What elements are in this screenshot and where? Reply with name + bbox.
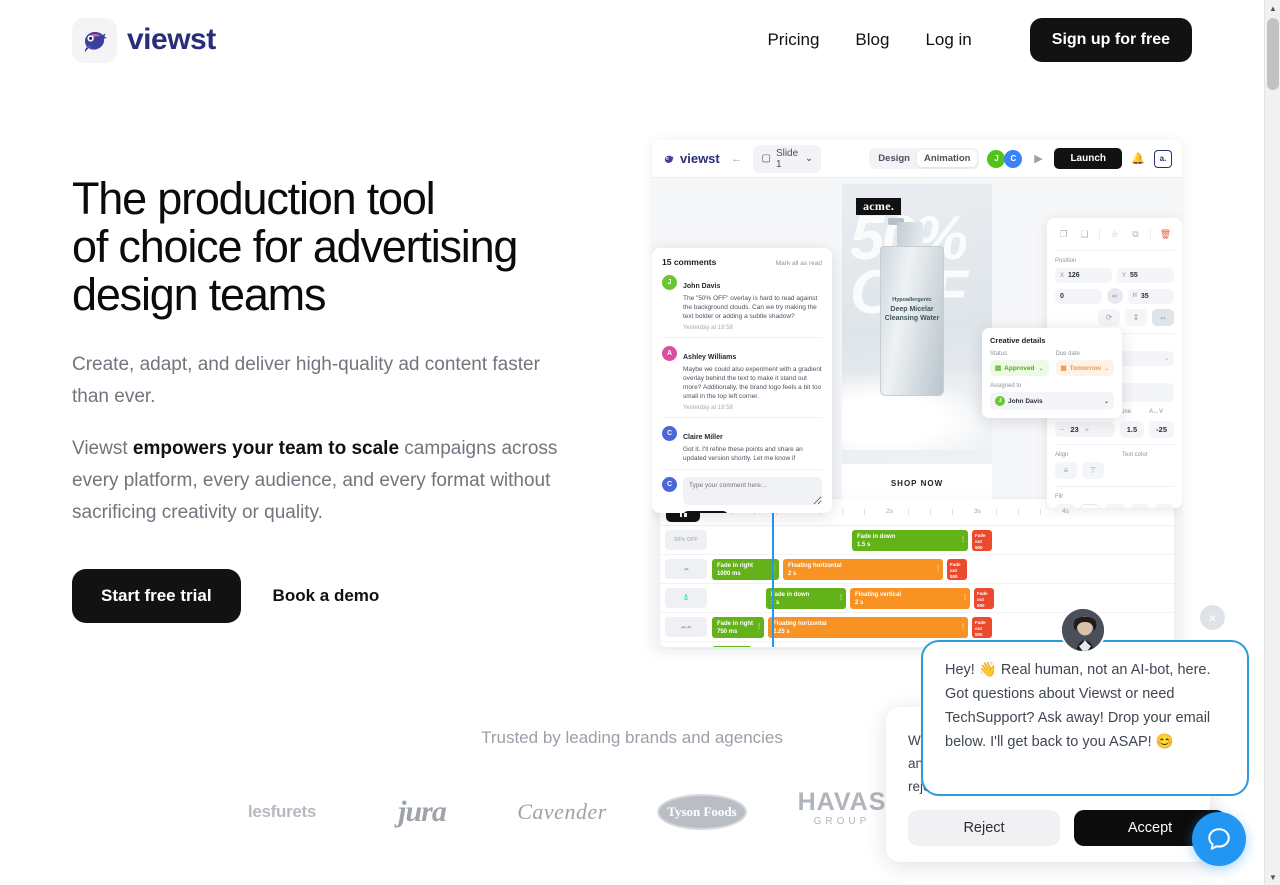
status-value: Approved: [1004, 365, 1034, 372]
back-arrow-icon[interactable]: ←: [728, 149, 746, 169]
comment-author: John Davis: [683, 283, 720, 290]
brand-logo-tyson-foods: Tyson Foods: [632, 784, 772, 840]
chat-close-icon[interactable]: ×: [1200, 605, 1225, 630]
due-date-group: Due date ▦ Tomorrow ⌄: [1056, 351, 1115, 376]
timeline-lane[interactable]: Fade in down 1 s ⋮ Floating vertical 2 s…: [710, 584, 1174, 613]
mode-tabs: Design Animation: [869, 148, 979, 169]
delete-icon[interactable]: 🗑: [1157, 226, 1174, 243]
clip-resize-handle[interactable]: ⋮: [960, 536, 965, 544]
chevron-down-icon: ⌄: [1104, 365, 1109, 372]
creative-details-popup: Creative details Status ▤ Approved ⌄ Due…: [982, 328, 1122, 418]
gradient-fill-icon[interactable]: ◨: [1105, 504, 1125, 508]
font-size-value: 23: [1070, 425, 1078, 434]
scroll-up-icon[interactable]: ▲: [1265, 0, 1280, 16]
chameleon-logo-icon: [72, 18, 117, 63]
calendar-icon: ▦: [1061, 364, 1067, 372]
launch-button[interactable]: Launch: [1054, 148, 1122, 169]
comments-count: 15 comments: [662, 257, 716, 267]
tab-animation[interactable]: Animation: [917, 150, 977, 167]
animation-clip[interactable]: Fade out 500 ms: [972, 617, 992, 638]
ad-brand-logo: acme.: [856, 198, 901, 215]
comment-body: John Davis The "50% OFF" overlay is hard…: [683, 275, 822, 331]
assigned-to-value: John Davis: [1008, 398, 1043, 405]
cookie-buttons: Reject Accept: [908, 810, 1226, 846]
scrollbar-thumb[interactable]: [1267, 18, 1279, 90]
position-x-field[interactable]: X 126: [1055, 268, 1112, 283]
chevron-down-icon: ⌄: [805, 153, 813, 164]
align-label: Align: [1055, 452, 1104, 458]
divider: [1150, 229, 1151, 241]
clip-duration: 750 ms: [717, 629, 737, 635]
clip-resize-handle[interactable]: ⋮: [935, 565, 940, 573]
nav-link-pricing[interactable]: Pricing: [767, 30, 819, 50]
clip-resize-handle[interactable]: ⋮: [838, 594, 843, 602]
cookie-reject-button[interactable]: Reject: [908, 810, 1060, 846]
comment-text: Got it. I'll refine these points and sha…: [683, 445, 822, 463]
clip-label: Fade in down: [857, 534, 895, 540]
bring-forward-icon[interactable]: ❐: [1055, 226, 1072, 243]
clip-label: Floating horizontal: [788, 563, 842, 569]
due-date-label: Due date: [1056, 351, 1115, 357]
creative-details-title: Creative details: [990, 336, 1114, 345]
decrement-icon[interactable]: −: [1060, 425, 1064, 434]
comment-item: A Ashley Williams Maybe we could also ex…: [662, 338, 822, 418]
canvas-area: 50% OFF acme. Hypoallergenic Deep Micela…: [652, 178, 1182, 508]
slide-label: Slide 1: [776, 148, 800, 170]
status-due-row: Status ▤ Approved ⌄ Due date ▦ Tomo: [990, 351, 1114, 376]
size-width-field[interactable]: 0: [1055, 289, 1102, 304]
page-scrollbar[interactable]: ▲ ▼: [1264, 0, 1280, 885]
book-a-demo-button[interactable]: Book a demo: [269, 582, 384, 610]
chat-agent-avatar: [1060, 607, 1106, 653]
nav-link-blog[interactable]: Blog: [855, 30, 889, 50]
fill-label: Fill: [1055, 494, 1174, 500]
clip-resize-handle[interactable]: ⋮: [756, 623, 761, 631]
tracking-value[interactable]: -25: [1149, 421, 1174, 438]
clip-label: Fade in right: [717, 563, 753, 569]
radial-fill-icon[interactable]: ◯: [1130, 504, 1150, 508]
avatar: J: [662, 275, 677, 290]
start-free-trial-button[interactable]: Start free trial: [72, 569, 241, 623]
layer-thumbnail[interactable]: ☁☁: [665, 617, 707, 637]
main-nav: Pricing Blog Log in Sign up for free: [767, 18, 1192, 62]
hero-paragraph: Viewst empowers your team to scale campa…: [72, 433, 572, 529]
tracking-group: A↔V -25: [1149, 409, 1174, 437]
fill-buttons: − ◓ ◨ ◯ 🖼: [1055, 504, 1174, 508]
line-height-value[interactable]: 1.5: [1120, 421, 1144, 438]
tracking-label: A↔V: [1149, 409, 1174, 415]
clip-label: Floating vertical: [855, 592, 901, 598]
brand-logo-lesfurets: lesfurets: [212, 784, 352, 840]
clip-label: Fade out: [975, 620, 986, 631]
comment-input[interactable]: [683, 477, 822, 505]
clip-duration: 2 s: [855, 600, 863, 606]
layer-actions-row: ❐ ❏ ☆ ⧉ 🗑: [1055, 226, 1174, 251]
tab-design[interactable]: Design: [871, 150, 917, 167]
collaborator-avatar-1[interactable]: J: [987, 150, 1005, 168]
layer-thumbnail[interactable]: acme.: [665, 647, 707, 648]
clip-duration: 500 ms: [975, 545, 983, 551]
size-width-value: 0: [1060, 293, 1064, 300]
chevron-down-icon: ⌄: [1164, 355, 1169, 362]
animation-clip[interactable]: Fade in down 1 s ⋮: [766, 588, 846, 609]
timeline-playhead[interactable]: [772, 499, 774, 647]
clip-resize-handle[interactable]: ⋮: [962, 594, 967, 602]
fill-section: Fill − ◓ ◨ ◯ 🖼: [1055, 487, 1174, 508]
app-logo-text: viewst: [680, 151, 720, 166]
slide-frame-icon: ▢: [761, 153, 770, 164]
brand-logo[interactable]: viewst: [72, 18, 216, 63]
scroll-down-icon[interactable]: ▼: [1265, 869, 1280, 885]
headline-line-2: of choice for advertising: [72, 221, 517, 272]
ad-product-kicker: Hypoallergenic: [882, 296, 942, 305]
nav-link-login[interactable]: Log in: [925, 30, 971, 50]
timeline-track: 🧴 Fade in down 1 s ⋮ Floating vertical 2…: [660, 584, 1174, 613]
position-y-field[interactable]: Y 55: [1117, 268, 1174, 283]
duplicate-layer-icon[interactable]: ❏: [1076, 226, 1093, 243]
comment-body: Claire Miller Got it. I'll refine these …: [683, 426, 822, 463]
align-buttons: ≡ ⊤: [1055, 462, 1104, 479]
comment-timestamp: Yesterday at 19:58: [683, 325, 822, 331]
timeline-track: 50% OFF Fade in down 1.5 s ⋮ Fade out 50…: [660, 526, 1174, 555]
account-avatar[interactable]: a.: [1154, 150, 1172, 168]
position-x-key: X: [1060, 273, 1064, 279]
bell-icon[interactable]: 🔔: [1128, 149, 1148, 169]
brand-logo-text: viewst: [127, 23, 216, 57]
text-color-group: Text color: [1122, 452, 1148, 462]
collaborator-avatar-2[interactable]: C: [1004, 150, 1022, 168]
page-root: viewst Pricing Blog Log in Sign up for f…: [0, 0, 1264, 885]
play-icon[interactable]: ▶: [1028, 149, 1048, 169]
animation-clip[interactable]: Floating vertical 2 s ⋮: [850, 588, 970, 609]
brand-name: jura: [398, 795, 446, 829]
chat-bubble-icon: [1206, 826, 1232, 852]
signup-button[interactable]: Sign up for free: [1030, 18, 1192, 62]
comment-author: Claire Miller: [683, 434, 723, 441]
animation-clip[interactable]: Fade in 500 ms ⋮: [712, 646, 752, 647]
position-y-value: 55: [1130, 272, 1138, 279]
page-title: The production tool of choice for advert…: [72, 175, 572, 319]
comment-item: C Claire Miller Got it. I'll refine thes…: [662, 418, 822, 470]
clip-label: Fade out: [977, 591, 988, 602]
comment-text: Maybe we could also experiment with a gr…: [683, 365, 822, 401]
clip-label: Fade out: [975, 533, 986, 544]
due-date-badge[interactable]: ▦ Tomorrow ⌄: [1056, 360, 1115, 376]
hero-paragraph-bold: empowers your team to scale: [133, 438, 399, 459]
align-left-icon[interactable]: ≡: [1055, 462, 1077, 479]
clip-label: Fade in right: [717, 621, 753, 627]
flip-vertical-icon[interactable]: ⇕: [1125, 309, 1147, 326]
status-label: Status: [990, 351, 1049, 357]
position-fields: X 126 Y 55: [1055, 268, 1174, 283]
chat-launcher-button[interactable]: [1192, 812, 1246, 866]
avatar: C: [662, 426, 677, 441]
timeline-lane[interactable]: Fade in right 1000 ms ⋮ Floating horizon…: [710, 555, 1174, 584]
chat-message-text: Hey! 👋 Real human, not an AI-bot, here. …: [945, 658, 1225, 754]
clip-duration: 2 s: [788, 571, 796, 577]
copy-icon[interactable]: ⧉: [1127, 226, 1144, 243]
rotate-icon[interactable]: ⟳: [1098, 309, 1120, 326]
headline-line-3: design teams: [72, 269, 325, 320]
brand-name: Cavender: [517, 799, 607, 825]
assigned-to-label: Assigned to: [990, 383, 1114, 389]
link-dimensions-icon[interactable]: ∞: [1107, 288, 1123, 304]
clip-duration: 500 ms: [950, 574, 958, 580]
animation-clip[interactable]: Fade in down 1.5 s ⋮: [852, 530, 968, 551]
animation-clip[interactable]: Fade out 500 ms: [974, 588, 994, 609]
brand-logo-cavender: Cavender: [492, 784, 632, 840]
hero-copy: The production tool of choice for advert…: [72, 175, 572, 529]
brand-name: HAVAS GROUP: [798, 792, 887, 832]
ad-product-name: Deep Micelar Cleansing Water: [885, 306, 940, 322]
product-screenshot: viewst ← ▢ Slide 1 ⌄ Design Animation J …: [620, 135, 1200, 655]
animation-clip[interactable]: Fade in right 1000 ms ⋮: [712, 559, 779, 580]
clip-duration: 2.25 s: [773, 629, 790, 635]
font-size-stepper[interactable]: − 23 +: [1055, 422, 1115, 437]
chevron-down-icon: ⌄: [1038, 365, 1043, 372]
ad-shop-now-button[interactable]: SHOP NOW: [842, 464, 992, 502]
clip-duration: 1000 ms: [717, 571, 741, 577]
toolbar-right: J C ▶ Launch 🔔 a.: [987, 148, 1172, 169]
time-tick: 4s: [1062, 508, 1069, 515]
animation-clip[interactable]: Fade out 500 ms: [947, 559, 967, 580]
animation-clip[interactable]: Floating horizontal 2.25 s ⋮: [768, 617, 968, 638]
brand-name: Tyson Foods: [657, 794, 747, 830]
size-height-field[interactable]: H 35: [1128, 289, 1175, 304]
hero-paragraph-pre: Viewst: [72, 438, 133, 459]
animation-clip[interactable]: Fade out 500 ms: [972, 530, 992, 551]
ad-product-label: Hypoallergenic Deep Micelar Cleansing Wa…: [882, 296, 942, 323]
chevron-down-icon: ⌄: [1104, 398, 1109, 405]
clip-duration: 1.5 s: [857, 542, 870, 548]
comment-author: Ashley Williams: [683, 354, 736, 361]
size-height-key: H: [1133, 293, 1137, 299]
image-fill-icon[interactable]: 🖼: [1154, 504, 1174, 508]
hero-cta-row: Start free trial Book a demo: [72, 569, 383, 623]
comments-panel: 15 comments Mark all as read J John Davi…: [652, 248, 832, 513]
clip-label: Fade in down: [771, 592, 809, 598]
ad-creative[interactable]: 50% OFF acme. Hypoallergenic Deep Micela…: [842, 184, 992, 502]
time-tick: 2s: [886, 508, 893, 515]
avatar: A: [662, 346, 677, 361]
mark-all-as-read-link[interactable]: Mark all as read: [776, 260, 822, 267]
star-icon[interactable]: ☆: [1106, 226, 1123, 243]
align-top-icon[interactable]: ⊤: [1082, 462, 1104, 479]
position-label: Position: [1055, 258, 1174, 264]
avatar: J: [995, 396, 1005, 406]
comment-composer: C: [662, 477, 822, 505]
timeline-track: ☁ Fade in right 1000 ms ⋮ Floating horiz…: [660, 555, 1174, 584]
text-color-label: Text color: [1122, 452, 1148, 458]
divider: [1099, 229, 1100, 241]
comment-text: The "50% OFF" overlay is hard to read ag…: [683, 294, 822, 321]
status-group: Status ▤ Approved ⌄: [990, 351, 1049, 376]
flip-horizontal-icon[interactable]: ⇔: [1152, 309, 1174, 326]
comment-body: Ashley Williams Maybe we could also expe…: [683, 346, 822, 411]
position-y-key: Y: [1122, 273, 1126, 279]
clipboard-icon: ▤: [995, 364, 1001, 372]
clip-label: Fade out: [950, 562, 961, 573]
size-height-value: 35: [1141, 293, 1149, 300]
clip-label: Floating horizontal: [773, 621, 827, 627]
comment-item: J John Davis The "50% OFF" overlay is ha…: [662, 267, 822, 338]
clip-duration: 500 ms: [977, 603, 985, 609]
avatar: C: [662, 477, 677, 492]
app-toolbar: viewst ← ▢ Slide 1 ⌄ Design Animation J …: [652, 140, 1182, 178]
send-comment-button[interactable]: Send: [683, 511, 728, 513]
time-tick: 3s: [974, 508, 981, 515]
headline-line-1: The production tool: [72, 173, 434, 224]
assigned-to-select[interactable]: J John Davis ⌄: [990, 392, 1114, 410]
line-height-label: Line: [1120, 409, 1144, 415]
size-fields: 0 ∞ H 35: [1055, 288, 1174, 304]
site-header: viewst Pricing Blog Log in Sign up for f…: [0, 0, 1264, 80]
timeline-lane[interactable]: Fade in down 1.5 s ⋮ Fade out 500 ms: [710, 526, 1174, 555]
transform-row: ⟳ ⇕ ⇔: [1055, 309, 1174, 326]
position-x-value: 126: [1068, 272, 1080, 279]
clip-resize-handle[interactable]: ⋮: [960, 623, 965, 631]
comments-header: 15 comments Mark all as read: [662, 257, 822, 267]
hero-subtitle: Create, adapt, and deliver high-quality …: [72, 349, 572, 413]
clip-duration: 500 ms: [975, 632, 983, 638]
chameleon-logo-icon: [662, 152, 676, 166]
position-section: Position X 126 Y 55: [1055, 251, 1174, 334]
no-fill-icon[interactable]: −: [1055, 504, 1075, 508]
slide-selector[interactable]: ▢ Slide 1 ⌄: [753, 145, 821, 173]
brand-logo-jura: jura: [352, 784, 492, 840]
app-logo[interactable]: viewst: [662, 151, 720, 166]
comment-timestamp: Yesterday at 19:58: [683, 405, 822, 411]
app-window: viewst ← ▢ Slide 1 ⌄ Design Animation J …: [652, 140, 1182, 650]
status-badge[interactable]: ▤ Approved ⌄: [990, 360, 1049, 376]
chat-message-bubble: Hey! 👋 Real human, not an AI-bot, here. …: [921, 640, 1249, 796]
solid-fill-icon[interactable]: ◓: [1080, 504, 1100, 508]
layer-thumbnail[interactable]: 50% OFF: [665, 530, 707, 550]
animation-clip[interactable]: Fade in right 750 ms ⋮: [712, 617, 764, 638]
align-row: Align ≡ ⊤ Text color: [1055, 452, 1174, 479]
layer-thumbnail[interactable]: ☁: [665, 559, 707, 579]
line-height-group: Line 1.5: [1120, 409, 1144, 437]
layer-thumbnail[interactable]: 🧴: [665, 588, 707, 608]
animation-clip[interactable]: Floating horizontal 2 s ⋮: [783, 559, 943, 580]
due-date-value: Tomorrow: [1070, 365, 1101, 372]
align-section: Align ≡ ⊤ Text color: [1055, 445, 1174, 487]
brand-name: lesfurets: [248, 802, 316, 822]
align-group: Align ≡ ⊤: [1055, 452, 1104, 479]
increment-icon[interactable]: +: [1085, 425, 1089, 434]
